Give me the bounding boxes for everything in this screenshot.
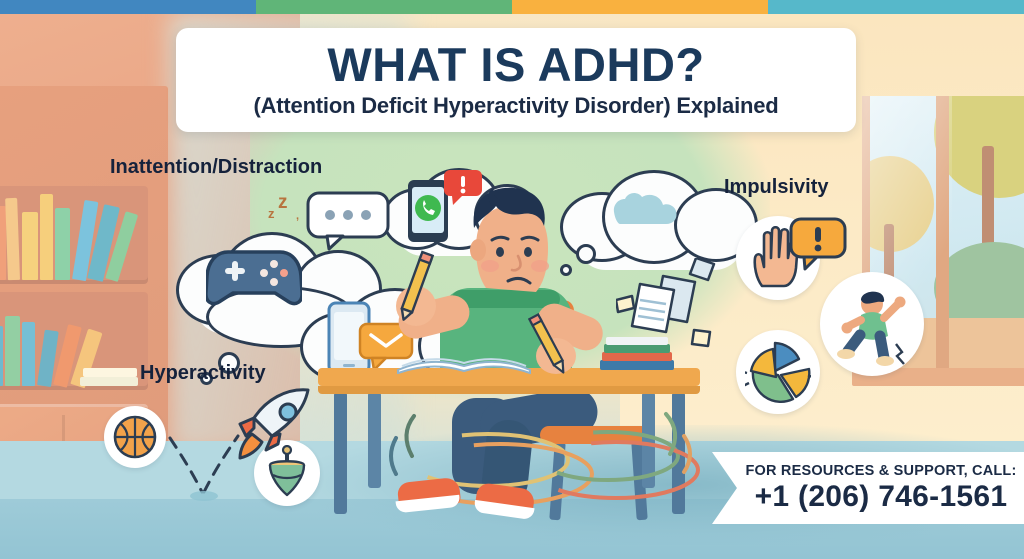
daydream-cloud-icon — [604, 188, 680, 232]
book-stack — [600, 336, 674, 370]
band-teal — [768, 0, 1024, 14]
pencil-icon — [528, 312, 574, 378]
open-book — [396, 350, 532, 374]
cta-phone-number[interactable]: +1 (206) 746-1561 — [755, 480, 1008, 514]
cta-headline: FOR RESOURCES & SUPPORT, CALL: — [745, 463, 1016, 479]
pie-chart-icon — [736, 330, 820, 414]
top-color-bands — [0, 0, 1024, 14]
title-card: WHAT IS ADHD? (Attention Deficit Hyperac… — [176, 28, 856, 132]
desk-leg — [334, 392, 347, 514]
band-blue — [0, 0, 256, 14]
game-controller-icon — [206, 244, 302, 306]
book-horizontal — [80, 377, 138, 386]
page-subtitle: (Attention Deficit Hyperactivity Disorde… — [253, 93, 778, 119]
chat-bubble-icon — [305, 190, 391, 252]
student-head — [452, 178, 572, 308]
book — [5, 198, 20, 280]
bookshelf-shelf — [0, 292, 148, 390]
book — [22, 212, 38, 280]
label-impulsivity: Impulsivity — [724, 176, 828, 199]
book-horizontal — [83, 368, 137, 377]
thought-cloud-dot — [576, 244, 596, 264]
rocket-icon — [228, 386, 320, 466]
basketball-icon — [104, 406, 166, 468]
page-title: WHAT IS ADHD? — [327, 41, 704, 89]
bookshelf — [0, 86, 168, 456]
book — [40, 194, 53, 280]
desk-edge — [318, 386, 700, 394]
band-green — [256, 0, 512, 14]
pencil-icon — [392, 250, 440, 324]
book — [55, 208, 70, 280]
band-orange — [512, 0, 768, 14]
book — [0, 326, 3, 386]
label-hyperactivity: Hyperactivity — [140, 362, 266, 385]
book — [5, 316, 20, 386]
call-to-action-banner[interactable]: FOR RESOURCES & SUPPORT, CALL: +1 (206) … — [712, 452, 1024, 524]
infographic-canvas: z z , — [0, 0, 1024, 559]
exclamation-icon — [788, 216, 854, 272]
book — [22, 322, 35, 386]
label-inattention: Inattention/Distraction — [110, 156, 322, 179]
jumping-person-icon — [820, 272, 924, 376]
bookshelf-shelf — [0, 186, 148, 284]
